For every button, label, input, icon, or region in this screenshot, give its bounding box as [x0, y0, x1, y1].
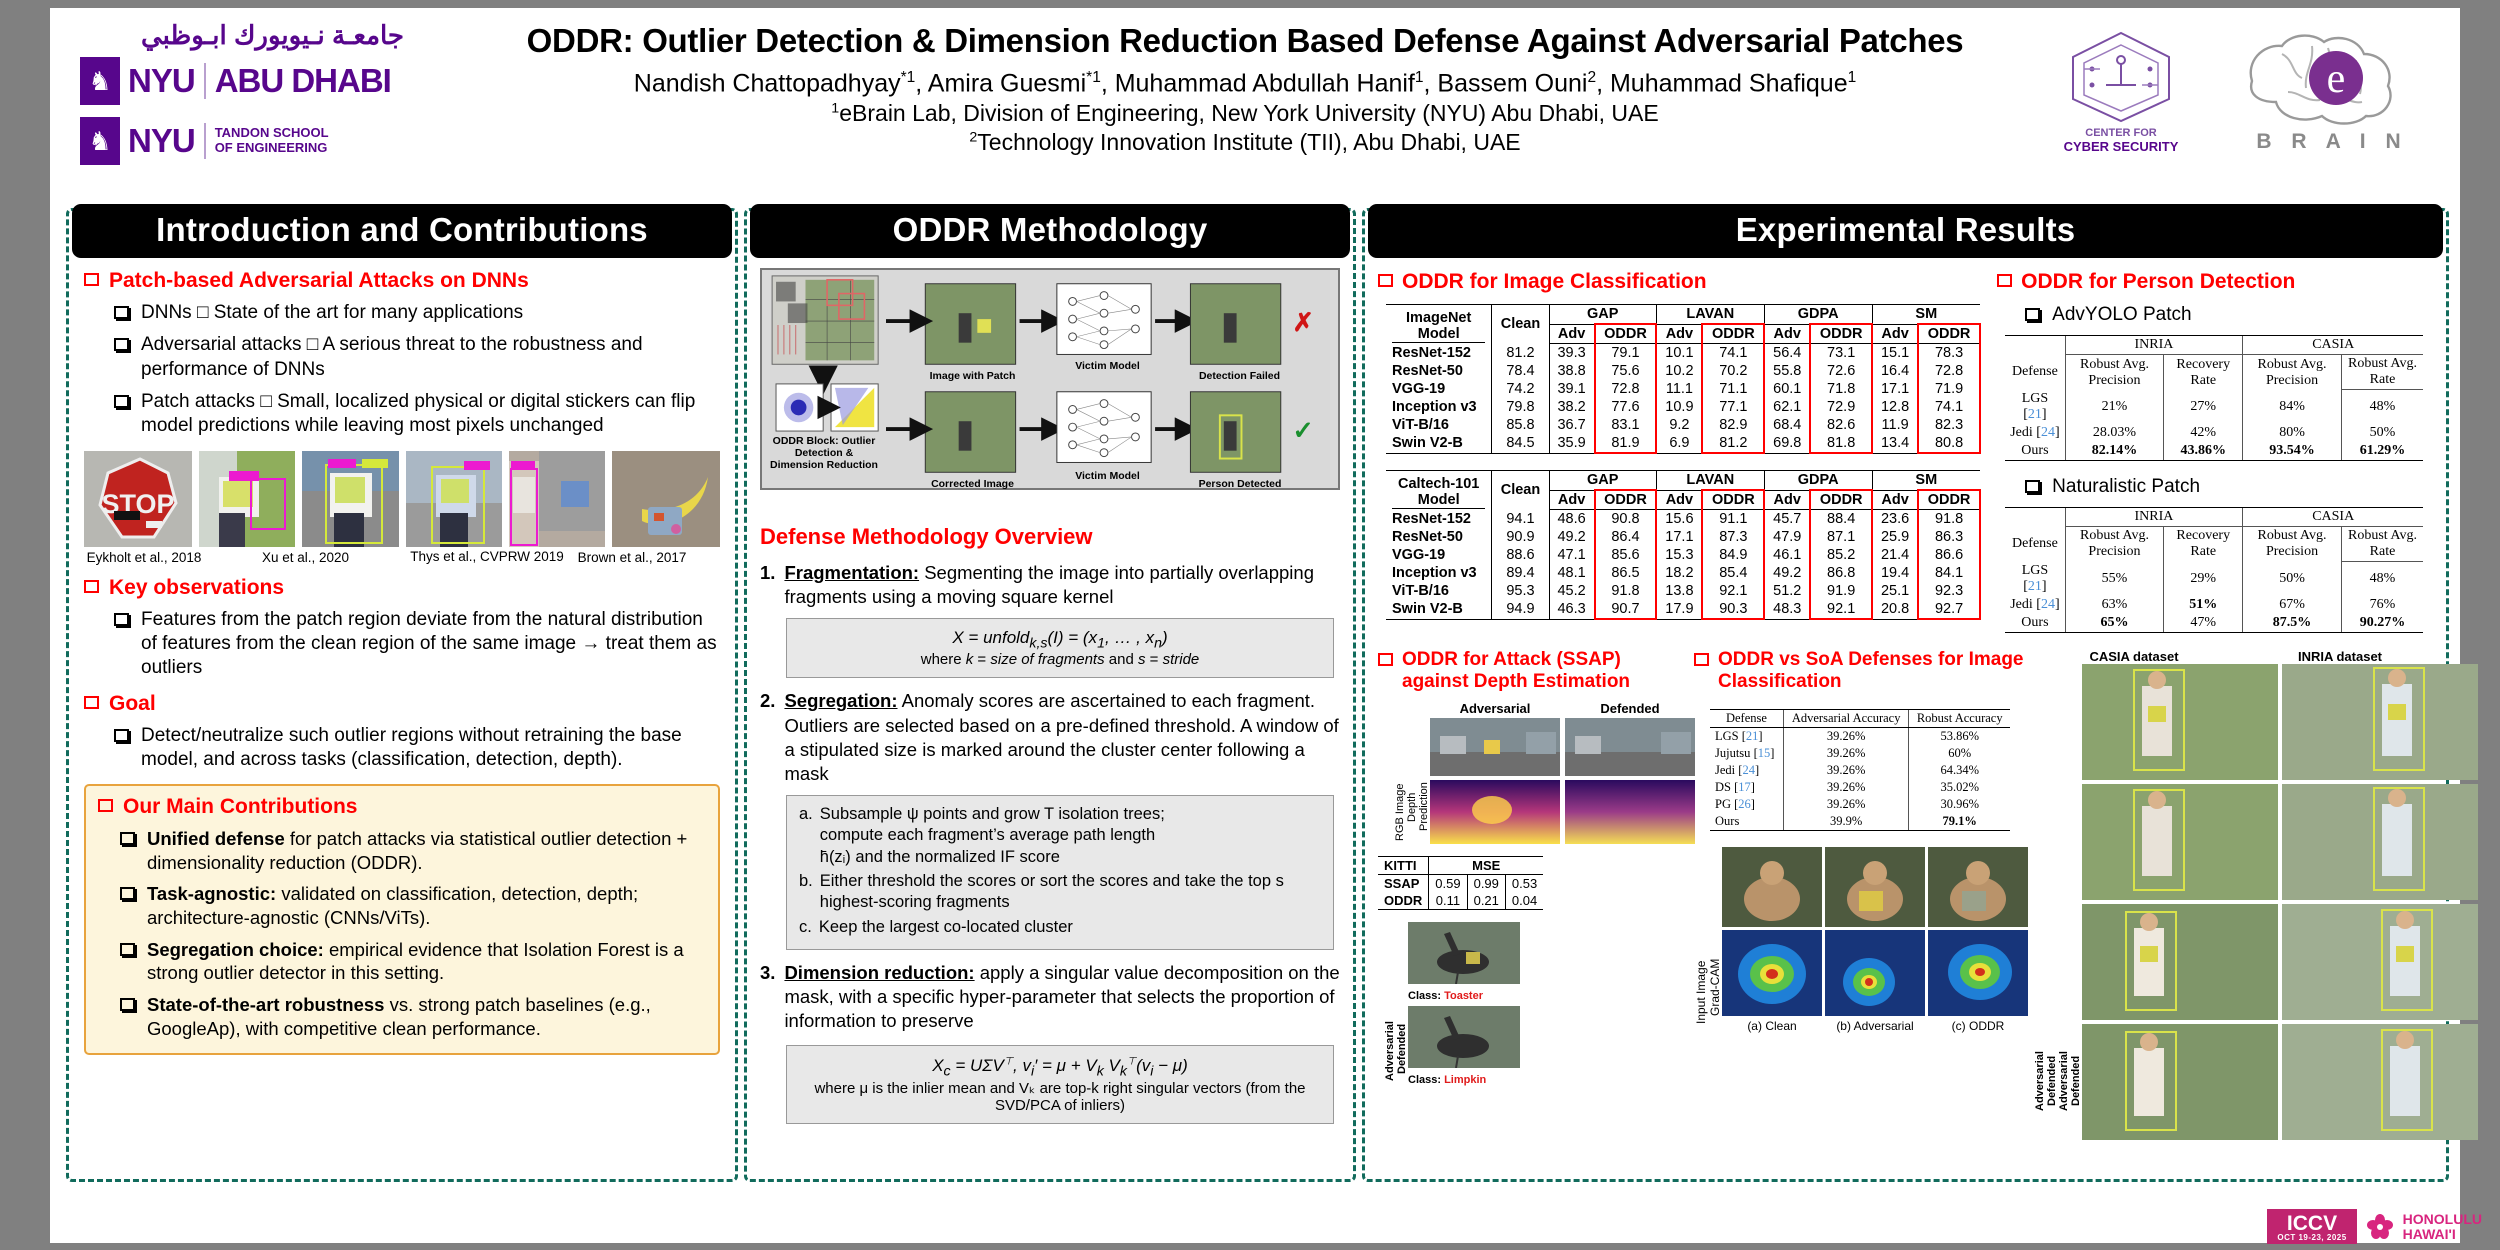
casia-dataset-label: CASIA dataset [2034, 649, 2234, 664]
step-3-dimension-reduction: 3. Dimension reduction: apply a singular… [760, 961, 1340, 1033]
table-row: DS [17]39.26%35.02% [1710, 779, 2010, 796]
nyu-logos: جامعـة نـيويورك ابـوظبي ♞ NYU ABU DHABI … [80, 20, 410, 165]
gradcam-col-oddr: (c) ODDR [1928, 1019, 2028, 1033]
logo-divider-2 [204, 123, 206, 159]
table-row: ResNet-5090.949.286.417.187.347.987.125.… [1386, 528, 1980, 546]
label-adversarial: Adversarial [1430, 701, 1560, 716]
nyu-torch-icon: ♞ [80, 57, 120, 105]
column-methodology: ODDR Methodology [750, 204, 1350, 1124]
step-number: 1. [760, 561, 775, 609]
checkbox-icon [1378, 653, 1393, 666]
advyolo-patch-label: AdvYOLO Patch [2025, 303, 2433, 327]
poster-root: جامعـة نـيويورك ابـوظبي ♞ NYU ABU DHABI … [50, 8, 2460, 1243]
person-casia-defended [2082, 784, 2278, 900]
substep-c: c.Keep the largest co-located cluster [799, 917, 1321, 938]
ebrain-logo: e B R A I N [2222, 26, 2442, 154]
caltech-results-table: Caltech-101 Model Clean GAP LAVAN GDPA S… [1386, 470, 1981, 620]
brain-icon: e [2232, 26, 2432, 131]
rgb-adversarial-image [1430, 718, 1560, 776]
cyber-security-logo: CENTER FOR CYBER SECURITY [2046, 27, 2196, 154]
checkbox-icon [2025, 480, 2040, 493]
step-number: 3. [760, 961, 775, 1033]
table-subheader-row: Defense Robust Avg. Precision Recovery R… [2005, 355, 2423, 390]
clean-header: Clean [1492, 471, 1549, 510]
gradcam-label: Grad-CAM [1708, 941, 1722, 1033]
segregation-substeps: a.Subsample ψ points and grow T isolatio… [786, 795, 1334, 951]
attack-gap-header: GAP [1549, 471, 1656, 491]
caption-thys: Thys et al., CVPRW 2019 [407, 550, 567, 565]
checkbox-icon [84, 696, 99, 709]
clean-header: Clean [1492, 305, 1549, 344]
class-label-adversarial: Class: Toaster [1408, 990, 1520, 1002]
nyu-tandon-logo: ♞ NYU TANDON SCHOOL OF ENGINEERING [80, 117, 410, 165]
title-block: ODDR: Outlier Detection & Dimension Redu… [420, 22, 2070, 156]
nyu-torch-icon-2: ♞ [80, 117, 120, 165]
attack-gdpa-header: GDPA [1764, 305, 1872, 325]
equation-1: X = unfoldk,s(I) = (x1, … , xn) [797, 628, 1323, 651]
affiliation-2: 2Technology Innovation Institute (TII), … [420, 129, 2070, 156]
gradcam-col-adversarial: (b) Adversarial [1825, 1019, 1925, 1033]
person-inria-adversarial [2282, 664, 2478, 780]
table-row: Swin V2-B94.946.390.717.990.348.392.120.… [1386, 600, 1980, 619]
grid-row-adversarial-1: Adversarial [2034, 1022, 2046, 1140]
checkbox-icon [114, 729, 129, 742]
svg-text:e: e [2327, 56, 2346, 102]
hibiscus-flower-icon [2367, 1214, 2393, 1240]
bullet-patch-attacks: Patch attacks □ Small, localized physica… [114, 390, 720, 439]
section-image-classification: ODDR for Image Classification [1378, 270, 1987, 294]
caption-brown: Brown et al., 2017 [567, 550, 697, 565]
table-subheader-row: Defense Robust Avg. Precision Recovery R… [2005, 527, 2423, 562]
image-captions: Eykholt et al., 2018 Xu et al., 2020 Thy… [84, 550, 720, 565]
poster-body: Introduction and Contributions Patch-bas… [50, 204, 2460, 1189]
table-row: Jedi [24]28.03%42%80%50% [2005, 424, 2423, 442]
ccs-line1: CENTER FOR [2046, 127, 2196, 139]
nyu-wordmark: NYU [128, 62, 195, 100]
table-row: LGS [21]55%29%50%48% [2005, 562, 2423, 596]
inria-dataset-label: INRIA dataset [2240, 649, 2440, 664]
table-row: Inception v389.448.186.518.285.449.286.8… [1386, 564, 1980, 582]
brain-wordmark: B R A I N [2222, 130, 2442, 154]
banana-toaster-image [612, 451, 720, 547]
gradcam-col-clean: (a) Clean [1722, 1019, 1822, 1033]
checkbox-icon [1378, 274, 1393, 287]
model-label: Model [1392, 326, 1485, 343]
step-2-segregation: 2. Segregation: Anomaly scores are ascer… [760, 689, 1340, 785]
table-row: SSAP0.590.990.53 [1378, 874, 1543, 892]
bird-row-adversarial: Adversarial [1384, 1016, 1396, 1086]
depth-defended-image [1565, 780, 1695, 844]
hexagon-circuit-icon [2066, 29, 2176, 124]
contribution-item: Unified defense for patch attacks via st… [120, 827, 706, 874]
checkbox-icon [120, 943, 135, 956]
depth-row-labels: RGB Image Depth Prediction [1394, 701, 1430, 844]
casia-group: CASIA [2243, 336, 2423, 355]
label-oddr-block: ODDR Block: Outlier Detection & Dimensio… [768, 436, 880, 471]
caltech-label: Caltech-101 [1392, 476, 1485, 492]
attack-sm-header: SM [1872, 305, 1980, 325]
imagenet-results-table: ImageNet Model Clean GAP LAVAN GDPA SM [1386, 304, 1981, 454]
svg-text:✓: ✓ [1293, 417, 1314, 445]
label-person-detected: Person Detected [1190, 478, 1290, 490]
section-person-detection: ODDR for Person Detection [1997, 270, 2433, 294]
section-soa-defenses: ODDR vs SoA Defenses for Image Classific… [1694, 649, 2024, 693]
stopsign-patch-image: STOP [84, 451, 192, 547]
nyu-abudhabi-logo: ♞ NYU ABU DHABI [80, 57, 410, 105]
svg-text:✗: ✗ [1293, 309, 1314, 337]
bullet-key-observation-1: Features from the patch region deviate f… [114, 608, 720, 681]
tshirt-patch-image-1 [199, 451, 295, 547]
iccv-badge: ICCV OCT 19-23, 2025 [2267, 1209, 2356, 1244]
methodology-pipeline-diagram: ✗ ✓ Image with Patch Victim Model Detect… [760, 268, 1340, 490]
section-goal: Goal [84, 692, 720, 716]
equation-2: Xc = UΣV⊤, vi′ = μ + Vk Vk⊤(vi − μ) [797, 1055, 1323, 1079]
gradcam-input-clean [1722, 847, 1822, 927]
contributions-box: Our Main Contributions Unified defense f… [84, 784, 720, 1054]
checkbox-icon [120, 887, 135, 900]
contribution-item: State-of-the-art robustness vs. strong p… [120, 993, 706, 1040]
grid-row-defended-2: Defended [2070, 1022, 2082, 1140]
kitti-mse-table: KITTI MSE SSAP0.590.990.53 ODDR0.110.210… [1378, 856, 1543, 910]
label-victim-model-1: Victim Model [1060, 360, 1155, 372]
equation-fragmentation: X = unfoldk,s(I) = (x1, … , xn) where k … [786, 618, 1334, 678]
depth-adversarial-image [1430, 780, 1560, 844]
table-row: ResNet-5078.438.875.610.270.255.872.616.… [1386, 362, 1980, 380]
inria-group: INRIA [2065, 336, 2243, 355]
ccs-line2: CYBER SECURITY [2046, 139, 2196, 154]
person-inria-adversarial-2 [2282, 904, 2478, 1020]
table-row: VGG-1974.239.172.811.171.160.171.817.171… [1386, 380, 1980, 398]
attack-examples-images: STOP [84, 451, 720, 547]
grid-row-adversarial-2: Adversarial [2058, 1022, 2070, 1140]
contribution-item: Segregation choice: empirical evidence t… [120, 938, 706, 985]
table-header-row: KITTI MSE [1378, 856, 1543, 874]
table-row: LGS [21]21%27%84%48% [2005, 390, 2423, 424]
table-row: Ours82.14%43.86%93.54%61.29% [2005, 442, 2423, 461]
affiliation-1: 1eBrain Lab, Division of Engineering, Ne… [420, 100, 2070, 127]
label-defended: Defended [1565, 701, 1695, 716]
column-results: Experimental Results ODDR for Image Clas… [1368, 204, 2443, 1140]
table-row: ViT-B/1685.836.783.19.282.968.482.611.98… [1386, 416, 1980, 434]
checkbox-icon [114, 338, 129, 351]
table-row: Swin V2-B84.535.981.96.981.269.881.813.4… [1386, 434, 1980, 453]
section-contributions: Our Main Contributions [98, 795, 706, 819]
footer-equal-contributions: *Equal contributions [62, 1225, 195, 1242]
table-row: ResNet-15294.148.690.815.691.145.788.423… [1386, 510, 1980, 529]
table-row: VGG-1988.647.185.615.384.946.185.221.486… [1386, 546, 1980, 564]
table-row: ODDR0.110.210.04 [1378, 892, 1543, 910]
bird-defended-image [1408, 1006, 1520, 1068]
grid-row-defended-1: Defended [2046, 1022, 2058, 1140]
bullet-adv-attacks: Adversarial attacks □ A serious threat t… [114, 333, 720, 382]
tshirt-patch-image-3 [406, 451, 502, 547]
banner-results: Experimental Results [1368, 204, 2443, 258]
checkbox-icon [114, 306, 129, 319]
gradcam-heatmap-oddr [1928, 930, 2028, 1016]
abudhabi-wordmark: ABU DHABI [215, 62, 391, 100]
table-row: Jedi [24]63%51%67%76% [2005, 596, 2423, 614]
checkbox-icon [120, 998, 135, 1011]
table-row: LGS [21]39.26%53.86% [1710, 727, 2010, 745]
banner-methodology: ODDR Methodology [750, 204, 1350, 258]
honolulu-text: HONOLULU HAWAI'I [2403, 1212, 2482, 1241]
caption-xu: Xu et al., 2020 [204, 550, 407, 565]
attack-gdpa-header: GDPA [1764, 471, 1872, 491]
rgb-defended-image [1565, 718, 1695, 776]
checkbox-icon [1997, 274, 2012, 287]
attack-lavan-header: LAVAN [1656, 471, 1764, 491]
nyu-wordmark-2: NYU [128, 122, 195, 160]
label-image-with-patch: Image with Patch [925, 370, 1020, 382]
equation-1-note: where k = size of fragments and s = stri… [797, 651, 1323, 668]
defense-overview-title: Defense Methodology Overview [760, 524, 1340, 550]
attack-lavan-header: LAVAN [1656, 305, 1764, 325]
table-header-row: ImageNet Model Clean GAP LAVAN GDPA SM [1386, 305, 1980, 325]
person-inria-defended-2 [2282, 1024, 2478, 1140]
right-logos: CENTER FOR CYBER SECURITY e B R A I N [2046, 26, 2442, 154]
table-row: Jujutsu [15]39.26%60% [1710, 745, 2010, 762]
bullet-goal-1: Detect/neutralize such outlier regions w… [114, 724, 720, 773]
table-header-row: Caltech-101 Model Clean GAP LAVAN GDPA S… [1386, 471, 1980, 491]
iccv-logo: ICCV OCT 19-23, 2025 HONOLULU HAWAI'I [2267, 1209, 2482, 1244]
gradcam-heatmap-clean [1722, 930, 1822, 1016]
logo-divider [204, 63, 206, 99]
checkbox-icon [2025, 308, 2040, 321]
checkbox-icon [84, 580, 99, 593]
label-detection-failed: Detection Failed [1192, 370, 1287, 382]
gradcam-heatmap-adversarial [1825, 930, 1925, 1016]
step-number: 2. [760, 689, 775, 785]
page-title: ODDR: Outlier Detection & Dimension Redu… [420, 22, 2070, 60]
section-patch-attacks: Patch-based Adversarial Attacks on DNNs [84, 269, 720, 293]
naturalistic-detection-table: INRIA CASIA Defense Robust Avg. Precisio… [2005, 507, 2423, 633]
nyuad-arabic-logo: جامعـة نـيويورك ابـوظبي [80, 20, 410, 51]
label-victim-model-2: Victim Model [1060, 470, 1155, 482]
table-row: ResNet-15281.239.379.110.174.156.473.115… [1386, 344, 1980, 363]
advyolo-detection-table: INRIA CASIA Defense Robust Avg. Precisio… [2005, 335, 2423, 461]
naturalistic-patch-label: Naturalistic Patch [2025, 475, 2433, 499]
table-header-row: INRIA CASIA [2005, 336, 2423, 355]
bird-adversarial-image [1408, 922, 1520, 984]
model-label: Model [1392, 492, 1485, 509]
checkbox-icon [1694, 653, 1709, 666]
table-row: Inception v379.838.277.610.977.162.172.9… [1386, 398, 1980, 416]
person-locker-image [509, 451, 605, 547]
person-casia-defended-2 [2082, 1024, 2278, 1140]
table-row: Jedi [24]39.26%64.34% [1710, 762, 2010, 779]
gradcam-input-oddr [1928, 847, 2028, 927]
equation-dimension-reduction: Xc = UΣV⊤, vi′ = μ + Vk Vk⊤(vi − μ) wher… [786, 1045, 1334, 1124]
caption-eykholt: Eykholt et al., 2018 [84, 550, 204, 565]
substep-a: a.Subsample ψ points and grow T isolatio… [799, 804, 1321, 868]
poster-header: جامعـة نـيويورك ابـوظبي ♞ NYU ABU DHABI … [50, 8, 2460, 203]
person-casia-adversarial-2 [2082, 904, 2278, 1020]
substep-b: b.Either threshold the scores or sort th… [799, 871, 1321, 914]
imagenet-label: ImageNet [1392, 310, 1485, 326]
banner-introduction: Introduction and Contributions [72, 204, 732, 258]
table-header-row: INRIA CASIA [2005, 508, 2423, 527]
table-row: Ours39.9%79.1% [1710, 813, 2010, 831]
table-header-row: Defense Adversarial Accuracy Robust Accu… [1710, 709, 2010, 727]
column-introduction: Introduction and Contributions Patch-bas… [72, 204, 732, 1055]
bird-row-defended: Defended [1396, 1012, 1408, 1086]
bullet-dnns: DNNs □ State of the art for many applica… [114, 301, 720, 325]
label-corrected-image: Corrected Image [925, 478, 1020, 490]
gradcam-input-adversarial [1825, 847, 1925, 927]
class-label-defended: Class: Limpkin [1408, 1074, 1520, 1086]
person-casia-adversarial [2082, 664, 2278, 780]
tshirt-patch-image-2 [302, 451, 398, 547]
gradcam-input-label: Input Image [1694, 951, 1708, 1033]
section-key-observations: Key observations [84, 576, 720, 600]
checkbox-icon [114, 395, 129, 408]
soa-defense-table: Defense Adversarial Accuracy Robust Accu… [1710, 709, 2010, 831]
step-1-fragmentation: 1. Fragmentation: Segmenting the image i… [760, 561, 1340, 609]
table-row: ViT-B/1695.345.291.813.892.151.291.925.1… [1386, 582, 1980, 600]
authors-line: Nandish Chattopadhyay*1, Amira Guesmi*1,… [420, 69, 2070, 98]
section-ssap-depth: ODDR for Attack (SSAP) against Depth Est… [1378, 649, 1688, 693]
equation-2-note: where μ is the inlier mean and Vₖ are to… [797, 1079, 1323, 1114]
checkbox-icon [84, 273, 99, 286]
tandon-text: TANDON SCHOOL OF ENGINEERING [215, 126, 329, 156]
table-row: Ours65%47%87.5%90.27% [2005, 614, 2423, 633]
attack-gap-header: GAP [1549, 305, 1656, 325]
checkbox-icon [120, 832, 135, 845]
checkbox-icon [98, 799, 113, 812]
attack-sm-header: SM [1872, 471, 1980, 491]
checkbox-icon [114, 613, 129, 626]
person-inria-defended [2282, 784, 2478, 900]
contribution-item: Task-agnostic: validated on classificati… [120, 882, 706, 929]
table-row: PG [26]39.26%30.96% [1710, 796, 2010, 813]
